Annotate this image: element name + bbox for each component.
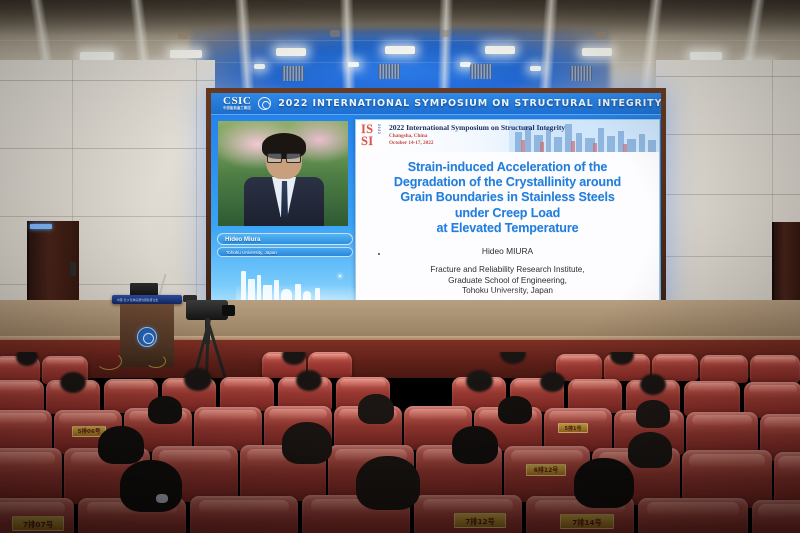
slide-title-line: Degradation of the Crystallinity around — [362, 175, 653, 190]
glasses-icon — [267, 153, 301, 161]
screen-banner-header: CSIC 中国船舶重工集团 2022 INTERNATIONAL SYMPOSI… — [211, 93, 661, 115]
ceiling-light — [385, 46, 415, 54]
ceiling-light — [485, 46, 515, 54]
seat-number-plate: 7排07号 — [12, 516, 64, 531]
speaker-nameplate: Hideo Miura Tohoku University, Japan — [217, 233, 353, 257]
seat[interactable] — [190, 496, 298, 533]
seat[interactable]: 7排12号 — [414, 495, 522, 533]
ceiling-light — [690, 52, 722, 60]
audience-head — [628, 432, 672, 468]
projection-screen: CSIC 中国船舶重工集团 2022 INTERNATIONAL SYMPOSI… — [211, 93, 661, 311]
institution-emblem-icon — [137, 327, 157, 347]
slide-title-line: Grain Boundaries in Stainless Steels — [362, 190, 653, 205]
speaker-affiliation: Tohoku University, Japan — [217, 247, 353, 257]
audience-head — [120, 460, 182, 512]
slide-bullet-mark — [378, 253, 380, 255]
podium-display-text: 中国·长沙 结构完整性国际研讨会 — [117, 298, 158, 302]
ceiling-beam — [340, 0, 356, 96]
audience-head — [636, 400, 670, 428]
ceiling-fixture — [440, 30, 450, 37]
seat[interactable] — [220, 377, 274, 411]
audience-head — [500, 352, 526, 364]
audience-head — [640, 374, 666, 395]
slide-title-line: under Creep Load — [362, 206, 653, 221]
ceiling-vent — [282, 66, 304, 81]
ceiling-fixture — [178, 32, 188, 39]
issi-logo: IS SI — [361, 124, 385, 148]
conference-name: 2022 International Symposium on Structur… — [389, 123, 565, 132]
seat[interactable] — [700, 355, 748, 383]
ceiling-vent — [378, 64, 400, 79]
ceiling-light — [254, 64, 265, 69]
audience-seating: 5排06号 5排1号 6排12号 — [0, 352, 800, 533]
exit-sign-icon — [30, 224, 52, 229]
seat-number-plate: 6排12号 — [526, 464, 566, 476]
audience-head — [452, 426, 498, 464]
ceiling-fixture — [596, 32, 606, 39]
audience-head — [540, 372, 565, 392]
ceiling-beam — [437, 0, 453, 96]
ceiling-light — [530, 66, 541, 71]
audience-head — [498, 396, 532, 424]
door-handle-plate[interactable] — [70, 262, 76, 276]
audience-head — [358, 394, 394, 424]
seat-number-plate: 7排14号 — [560, 514, 614, 529]
audience-head — [98, 426, 144, 464]
audience-head — [282, 422, 332, 464]
ceiling-vent — [470, 64, 492, 79]
speaker-video-feed — [218, 121, 348, 226]
seat[interactable] — [0, 380, 44, 414]
audience-head — [466, 370, 493, 392]
seat[interactable] — [638, 498, 748, 533]
seat[interactable] — [684, 381, 740, 416]
auditorium-photo: CSIC 中国船舶重工集团 2022 INTERNATIONAL SYMPOSI… — [0, 0, 800, 533]
audience-head — [574, 458, 634, 508]
seat[interactable] — [0, 448, 62, 504]
ceiling-vent — [570, 66, 592, 81]
ceiling-light — [80, 52, 114, 60]
seat[interactable] — [752, 500, 800, 533]
issi-logo-bottom: SI — [361, 134, 373, 148]
audience-head — [148, 396, 182, 424]
ceiling-light — [348, 62, 359, 67]
seat-number-plate: 5排1号 — [558, 423, 588, 433]
slide-author: Hideo MIURA — [356, 246, 659, 256]
slide-header: IS SI 2022 2022 International Symposium … — [356, 120, 659, 152]
ceiling-light — [170, 50, 202, 58]
csic-sub: 中国船舶重工集团 — [223, 107, 251, 110]
conference-dates: October 14-17, 2022 — [389, 140, 433, 146]
audience-head — [184, 368, 212, 391]
slide-title: Strain-induced Acceleration of the Degra… — [356, 160, 659, 236]
ceiling-light — [276, 48, 306, 56]
seat-number-plate: 7排12号 — [454, 513, 506, 528]
issi-logo-year: 2022 — [377, 124, 381, 135]
ceiling-shadow — [0, 0, 800, 36]
ceiling-light — [582, 48, 612, 56]
seat[interactable]: 7排07号 — [0, 498, 74, 533]
projection-screen-frame: CSIC 中国船舶重工集团 2022 INTERNATIONAL SYMPOSI… — [206, 88, 666, 316]
slide-title-line: Strain-induced Acceleration of the — [362, 160, 653, 175]
csic-logo: CSIC 中国船舶重工集团 — [223, 96, 251, 110]
audience-head — [296, 370, 322, 391]
conference-city: Changsha, China — [389, 133, 427, 139]
audience-head — [356, 456, 420, 510]
face-mask — [156, 494, 168, 503]
screen-body: Hideo Miura Tohoku University, Japan — [211, 115, 661, 311]
ceiling-fixture — [330, 30, 340, 37]
banner-title: 2022 INTERNATIONAL SYMPOSIUM ON STRUCTUR… — [278, 98, 661, 109]
podium-display-panel: 中国·长沙 结构完整性国际研讨会 — [112, 295, 182, 304]
speaker-name: Hideo Miura — [217, 233, 353, 245]
audience-head — [60, 372, 86, 393]
circular-emblem-icon — [258, 97, 271, 110]
slide-title-line: at Elevated Temperature — [362, 221, 653, 236]
seat[interactable] — [750, 355, 800, 383]
